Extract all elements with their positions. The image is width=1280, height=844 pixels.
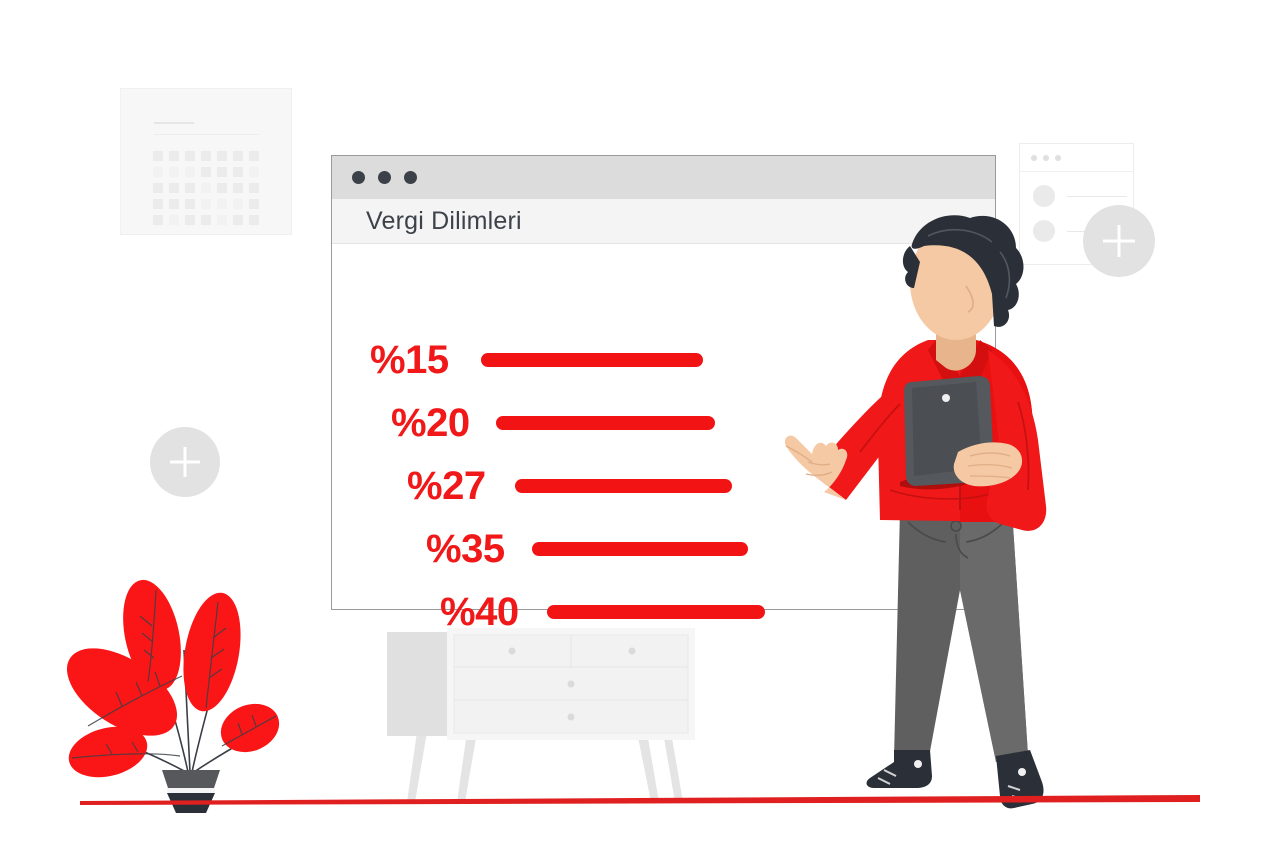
calendar-cell: [185, 183, 195, 193]
calendar-cell: [185, 167, 195, 177]
window-traffic-lights: [352, 171, 417, 184]
calendar-cell: [249, 183, 259, 193]
mini-card-dots: [1031, 155, 1061, 161]
character-trousers: [894, 510, 1028, 762]
bar-fill: [496, 416, 715, 430]
bar-fill: [481, 353, 703, 367]
calendar-cell: [217, 151, 227, 161]
tablet-camera-icon: [942, 394, 950, 402]
window-dot-icon: [1043, 155, 1049, 161]
calendar-divider-line: [154, 134, 259, 135]
calendar-cell: [233, 215, 243, 225]
calendar-cell: [233, 151, 243, 161]
calendar-cell: [201, 151, 211, 161]
calendar-cell: [169, 167, 179, 177]
calendar-cell: [217, 199, 227, 209]
presenter-character: [760, 190, 1100, 830]
calendar-cell: [249, 151, 259, 161]
calendar-cell: [233, 199, 243, 209]
window-dot-icon[interactable]: [352, 171, 365, 184]
drawer-knob: [629, 648, 636, 655]
bar-track: [547, 605, 765, 619]
bar-label: %40: [440, 592, 519, 632]
calendar-title-line: [154, 122, 194, 124]
bar-label: %35: [426, 529, 505, 569]
bar-track: [481, 353, 703, 367]
drawer-knob: [568, 714, 575, 721]
chart-row: %35: [426, 521, 748, 577]
window-dot-icon: [1055, 155, 1061, 161]
illustration-scene: Vergi Dilimleri %15 %20 %27: [0, 0, 1280, 844]
calendar-cell: [169, 151, 179, 161]
chart-row: %15: [370, 332, 703, 388]
page-title: Vergi Dilimleri: [366, 207, 522, 236]
bar-fill: [532, 542, 748, 556]
leaf: [214, 695, 287, 760]
window-dot-icon: [1031, 155, 1037, 161]
calendar-cell: [153, 167, 163, 177]
bar-label: %20: [391, 403, 470, 443]
drawer-knob: [509, 648, 516, 655]
window-dot-icon[interactable]: [404, 171, 417, 184]
chart-row: %27: [407, 458, 732, 514]
bar-track: [532, 542, 748, 556]
calendar-cell: [201, 183, 211, 193]
chart-row: %20: [391, 395, 715, 451]
calendar-cell: [233, 167, 243, 177]
calendar-cell: [153, 199, 163, 209]
calendar-cell: [217, 215, 227, 225]
dresser-side-panel: [387, 632, 452, 736]
calendar-widget: [120, 88, 292, 235]
calendar-cell: [217, 183, 227, 193]
calendar-grid: [153, 151, 263, 229]
calendar-cell: [169, 215, 179, 225]
plus-icon: [150, 427, 220, 497]
calendar-cell: [217, 167, 227, 177]
calendar-cell: [169, 199, 179, 209]
bar-track: [496, 416, 715, 430]
calendar-cell: [233, 183, 243, 193]
bar-track: [515, 479, 732, 493]
bar-label: %27: [407, 466, 486, 506]
calendar-cell: [201, 215, 211, 225]
calendar-cell: [185, 151, 195, 161]
calendar-cell: [153, 183, 163, 193]
potted-plant: [60, 530, 310, 815]
calendar-cell: [153, 151, 163, 161]
bar-label: %15: [370, 340, 449, 380]
calendar-cell: [249, 215, 259, 225]
bar-fill: [547, 605, 765, 619]
window-dot-icon[interactable]: [378, 171, 391, 184]
calendar-cell: [153, 215, 163, 225]
calendar-cell: [249, 199, 259, 209]
calendar-cell: [185, 215, 195, 225]
add-button-left[interactable]: [150, 427, 220, 497]
pot-top: [162, 770, 220, 788]
chart-row: %40: [440, 584, 765, 640]
calendar-cell: [201, 167, 211, 177]
bar-fill: [515, 479, 732, 493]
calendar-cell: [185, 199, 195, 209]
drawer-knob: [568, 681, 575, 688]
floor-line: [80, 792, 1200, 806]
calendar-cell: [169, 183, 179, 193]
calendar-cell: [249, 167, 259, 177]
calendar-cell: [201, 199, 211, 209]
dresser-furniture: [375, 622, 705, 802]
mini-card-titlebar: [1020, 144, 1133, 172]
